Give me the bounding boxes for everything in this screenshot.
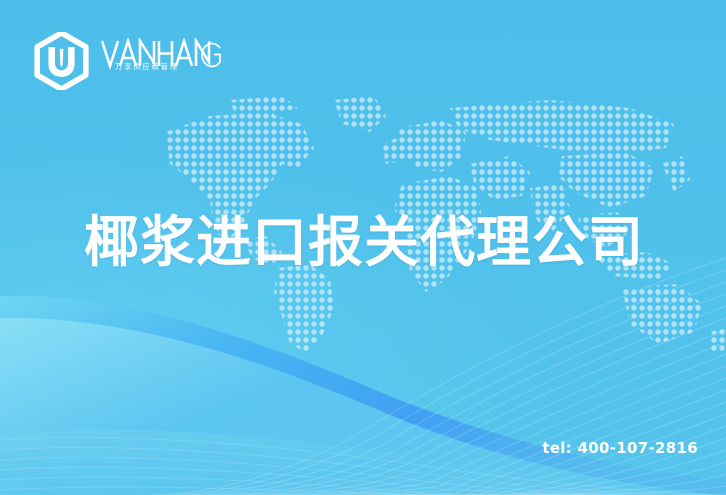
logo-subtitle: 万享供应链管理 (115, 63, 179, 71)
contact-phone: tel: 400-107-2816 (542, 439, 698, 457)
hexagon-shield-icon (33, 32, 90, 90)
logo-wordmark-group: 万享供应链管理 (101, 38, 221, 84)
page-title: 椰浆进口报关代理公司 (84, 214, 648, 272)
brand-logo[interactable]: 万享供应链管理 (33, 32, 221, 90)
promo-banner: 万享供应链管理 椰浆进口报关代理公司 tel: 400-107-2816 (0, 0, 726, 495)
